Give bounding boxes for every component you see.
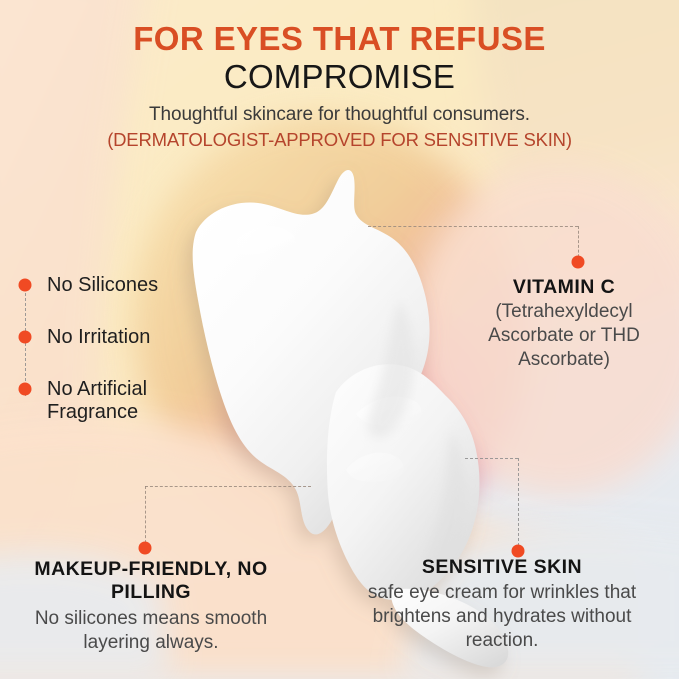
callout-sensitive-skin: SENSITIVE SKIN safe eye cream for wrinkl… [352,556,652,653]
subheadline: Thoughtful skincare for thoughtful consu… [0,104,679,126]
callout-body: safe eye cream for wrinkles that brighte… [352,581,652,653]
bullet-dot-icon [19,331,32,344]
list-item: No Irritation [18,324,233,376]
bullet-dot-icon [19,383,32,396]
list-item: No Artificial Fragrance [18,376,233,428]
callout-dot-makeup [139,542,152,555]
leader-line-vitamin-c-horizontal [368,226,578,227]
list-item-label: No Irritation [47,324,233,349]
leader-line-sensitive-horizontal [465,458,518,459]
no-claims-list: No Silicones No Irritation No Artificial… [18,272,233,428]
callout-body: (Tetrahexyldecyl Ascorbate or THD Ascorb… [458,300,670,372]
list-item-label: No Silicones [47,272,233,297]
callout-body: No silicones means smooth layering alway… [16,607,286,655]
leader-line-makeup-horizontal [145,486,311,487]
dermatologist-approval-note: (DERMATOLOGIST-APPROVED FOR SENSITIVE SK… [0,129,679,151]
callout-title: VITAMIN C [458,276,670,299]
list-item: No Silicones [18,272,233,324]
headline-secondary: COMPROMISE [0,59,679,96]
callout-dot-vitamin-c [572,256,585,269]
product-infographic: FOR EYES THAT REFUSE COMPROMISE Thoughtf… [0,0,679,679]
callout-makeup-friendly: MAKEUP-FRIENDLY, NO PILLING No silicones… [16,558,286,655]
callout-vitamin-c: VITAMIN C (Tetrahexyldecyl Ascorbate or … [458,276,670,372]
header-block: FOR EYES THAT REFUSE COMPROMISE Thoughtf… [0,22,679,151]
leader-line-sensitive-vertical [518,458,519,551]
callout-title: MAKEUP-FRIENDLY, NO PILLING [16,558,286,605]
leader-line-makeup-vertical [145,486,146,548]
headline-primary: FOR EYES THAT REFUSE [0,22,679,57]
list-item-label: No Artificial Fragrance [47,376,233,425]
bullet-dot-icon [19,279,32,292]
callout-title: SENSITIVE SKIN [352,556,652,579]
